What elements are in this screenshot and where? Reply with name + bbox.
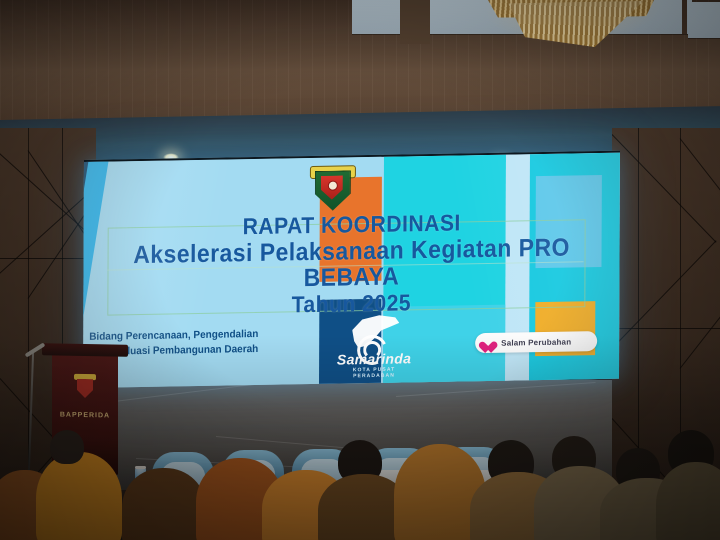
- slide-title-group: RAPAT KOORDINASI Akselerasi Pelaksanaan …: [83, 209, 619, 321]
- conference-room-photo: RAPAT KOORDINASI Akselerasi Pelaksanaan …: [0, 0, 720, 540]
- samarinda-logo-tagline: KOTA PUSAT PERADABAN: [331, 366, 417, 380]
- city-crest-icon: [74, 374, 96, 400]
- window-column: [400, 0, 430, 44]
- audience-person: [122, 468, 206, 540]
- heart-hand-icon: [483, 337, 496, 349]
- samarinda-coat-of-arms-icon: [310, 161, 354, 214]
- salam-perubahan-label: Salam Perubahan: [501, 337, 571, 347]
- podium-top: [42, 343, 128, 357]
- salam-perubahan-badge: Salam Perubahan: [475, 331, 597, 353]
- projection-screen[interactable]: RAPAT KOORDINASI Akselerasi Pelaksanaan …: [83, 151, 620, 388]
- slide-title-line2: Akselerasi Pelaksanaan Kegiatan PRO BEBA…: [105, 234, 598, 295]
- clerestory-window: [688, 2, 720, 38]
- samarinda-logo-name: Samarinda: [331, 350, 417, 368]
- slide-canvas: RAPAT KOORDINASI Akselerasi Pelaksanaan …: [83, 151, 620, 388]
- chandelier-light: [472, 0, 676, 63]
- audience-person: [36, 452, 122, 540]
- podium-label: BAPPERIDA: [52, 411, 118, 419]
- window-mullion: [682, 0, 687, 34]
- audience-person: [50, 430, 84, 464]
- samarinda-logo: Samarinda KOTA PUSAT PERADABAN: [331, 306, 417, 382]
